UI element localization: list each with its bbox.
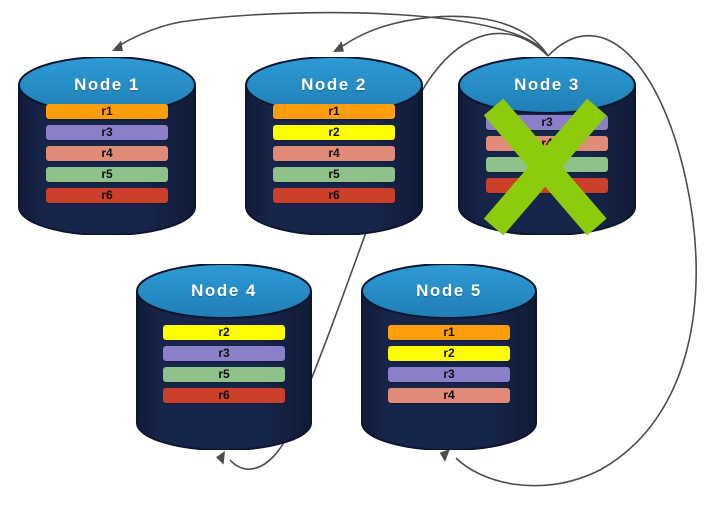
- node-cylinder-5[interactable]: Node 5r1r2r3r4: [361, 264, 537, 450]
- cylinder-top: [459, 57, 635, 113]
- arrowhead-node-2: [331, 41, 347, 56]
- replica-bar[interactable]: r1: [46, 104, 168, 119]
- replica-bar[interactable]: r4: [388, 388, 510, 403]
- replica-bar[interactable]: r6: [486, 178, 608, 193]
- node-cylinder-3[interactable]: Node 3r3r4r5r6: [458, 57, 636, 235]
- replica-bar[interactable]: r5: [486, 157, 608, 172]
- replica-bar[interactable]: r2: [273, 125, 395, 140]
- replica-bar[interactable]: r4: [273, 146, 395, 161]
- replica-list: r1r2r3r4: [361, 325, 537, 403]
- replica-bar[interactable]: r3: [163, 346, 285, 361]
- replica-bar[interactable]: r4: [486, 136, 608, 151]
- arrowhead-node-4: [215, 449, 230, 465]
- node-cylinder-4[interactable]: Node 4r2r3r5r6: [136, 264, 312, 450]
- replica-bar[interactable]: r6: [46, 188, 168, 203]
- node-replica-diagram: Node 1r1r3r4r5r6Node 2r1r2r4r5r6Node 3r3…: [0, 0, 708, 508]
- cylinder-top: [137, 264, 311, 318]
- replica-bar[interactable]: r3: [486, 115, 608, 130]
- replica-bar[interactable]: r6: [273, 188, 395, 203]
- replica-list: r1r2r4r5r6: [245, 104, 423, 203]
- node-cylinder-1[interactable]: Node 1r1r3r4r5r6: [18, 57, 196, 235]
- replica-bar[interactable]: r2: [163, 325, 285, 340]
- replica-list: r1r3r4r5r6: [18, 104, 196, 203]
- replica-bar[interactable]: r1: [388, 325, 510, 340]
- replica-bar[interactable]: r3: [388, 367, 510, 382]
- node-cylinder-2[interactable]: Node 2r1r2r4r5r6: [245, 57, 423, 235]
- replica-list: r2r3r5r6: [136, 325, 312, 403]
- replica-bar[interactable]: r5: [163, 367, 285, 382]
- cylinder-top: [362, 264, 536, 318]
- replica-bar[interactable]: r2: [388, 346, 510, 361]
- replica-bar[interactable]: r1: [273, 104, 395, 119]
- replica-bar[interactable]: r3: [46, 125, 168, 140]
- replica-bar[interactable]: r5: [46, 167, 168, 182]
- replica-list: r3r4r5r6: [458, 115, 636, 193]
- replica-bar[interactable]: r4: [46, 146, 168, 161]
- replica-bar[interactable]: r5: [273, 167, 395, 182]
- replica-bar[interactable]: r6: [163, 388, 285, 403]
